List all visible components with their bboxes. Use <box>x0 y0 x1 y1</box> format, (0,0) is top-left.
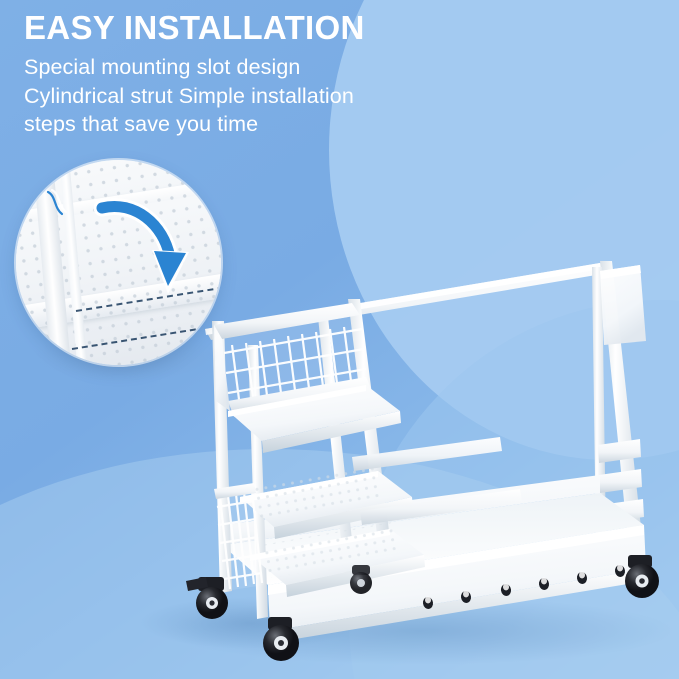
inset-mounting-pin <box>34 333 50 349</box>
inset-slot-indicator-icon <box>42 182 90 230</box>
banner-text-block: EASY INSTALLATION Special mounting slot … <box>24 10 664 139</box>
caster-rear-left <box>350 565 372 594</box>
subtitle-line-2: Cylindrical strut Simple installation <box>24 82 664 111</box>
page-title: EASY INSTALLATION <box>24 10 664 47</box>
subtitle-line-3: steps that save you time <box>24 110 664 139</box>
marketing-image-canvas: EASY INSTALLATION Special mounting slot … <box>0 0 679 679</box>
subtitle-line-1: Special mounting slot design <box>24 53 664 82</box>
detail-zoom-circle <box>16 160 221 365</box>
caster-right <box>625 555 659 598</box>
curved-down-right-arrow-icon <box>94 188 204 306</box>
